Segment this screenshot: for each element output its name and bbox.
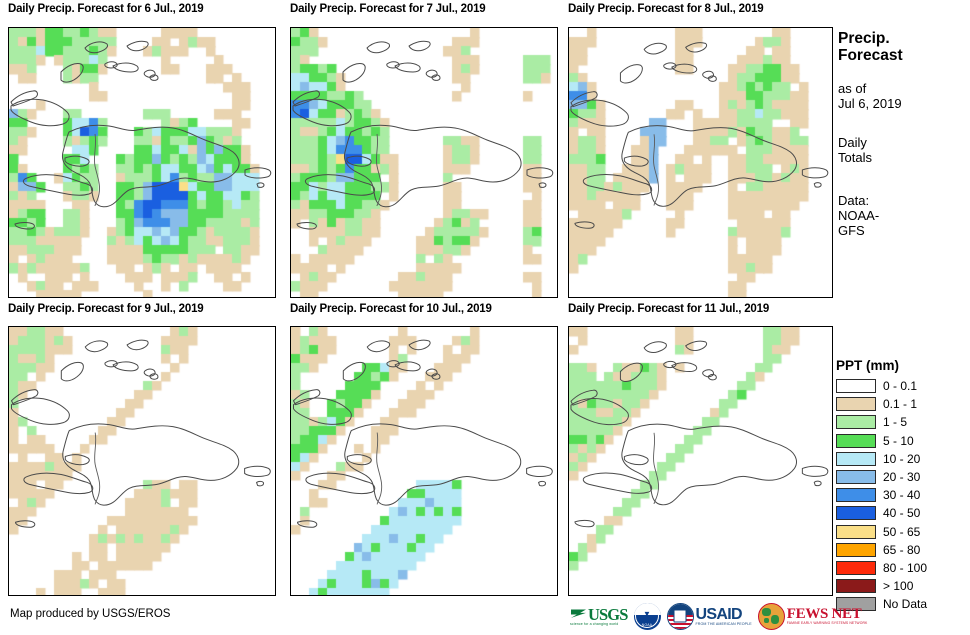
legend-label: 20 - 30	[883, 470, 920, 484]
legend-row: 1 - 5	[836, 413, 970, 431]
precip-grid-1	[9, 28, 276, 298]
map-frame-5[interactable]	[290, 326, 558, 596]
legend-swatch	[836, 397, 876, 411]
legend-title: PPT (mm)	[836, 358, 970, 373]
legend-swatch	[836, 470, 876, 484]
forecast-panel-1: Daily Precip. Forecast for 6 Jul., 2019	[8, 3, 276, 16]
forecast-panel-4: Daily Precip. Forecast for 9 Jul., 2019	[8, 303, 276, 316]
usgs-logo-tagline: science for a changing world	[570, 622, 628, 626]
usgs-logo[interactable]: USGS science for a changing world	[570, 601, 628, 631]
sidebar-data-line2: NOAA-	[838, 208, 968, 223]
panel-title: Daily Precip. Forecast for 6 Jul., 2019	[8, 3, 276, 16]
legend-rows: 0 - 0.10.1 - 11 - 55 - 1010 - 2020 - 303…	[836, 377, 970, 613]
legend-label: 5 - 10	[883, 434, 914, 448]
legend-swatch	[836, 525, 876, 539]
legend-label: 30 - 40	[883, 488, 920, 502]
legend-row: 20 - 30	[836, 468, 970, 486]
fews-logo-text: FEWS NET	[787, 607, 868, 621]
legend-row: 5 - 10	[836, 432, 970, 450]
forecast-panel-6: Daily Precip. Forecast for 11 Jul., 2019	[568, 303, 836, 316]
legend-row: 40 - 50	[836, 504, 970, 522]
legend-label: > 100	[883, 579, 913, 593]
legend-swatch	[836, 379, 876, 393]
sidebar-asof-line1: as of	[838, 81, 968, 96]
legend-row: 65 - 80	[836, 541, 970, 559]
legend-row: 30 - 40	[836, 486, 970, 504]
usaid-seal-icon	[667, 603, 694, 630]
noaa-seal-icon: ▼ NOAA	[634, 603, 661, 630]
noaa-logo[interactable]: ▼ NOAA	[634, 601, 661, 631]
legend-row: 0 - 0.1	[836, 377, 970, 395]
usaid-logo[interactable]: USAID FROM THE AMERICAN PEOPLE	[667, 601, 752, 631]
legend-label: 80 - 100	[883, 561, 927, 575]
precip-grid-6	[569, 327, 833, 596]
usaid-logo-tagline: FROM THE AMERICAN PEOPLE	[696, 622, 752, 626]
legend-label: 0 - 0.1	[883, 379, 917, 393]
legend-swatch	[836, 488, 876, 502]
usaid-logo-text: USAID	[696, 607, 752, 622]
panel-title: Daily Precip. Forecast for 10 Jul., 2019	[290, 303, 558, 316]
legend-swatch	[836, 415, 876, 429]
sidebar-data-line1: Data:	[838, 193, 968, 208]
usgs-logo-text: USGS	[588, 607, 628, 622]
legend-label: 10 - 20	[883, 452, 920, 466]
legend-label: 0.1 - 1	[883, 397, 917, 411]
panel-title: Daily Precip. Forecast for 8 Jul., 2019	[568, 3, 836, 16]
sidebar-data-line3: GFS	[838, 223, 968, 238]
precip-grid-5	[291, 327, 558, 596]
panel-title: Daily Precip. Forecast for 9 Jul., 2019	[8, 303, 276, 316]
usgs-wave-icon	[570, 607, 587, 622]
map-credit: Map produced by USGS/EROS	[10, 608, 170, 620]
sidebar-totals-line1: Daily	[838, 135, 968, 150]
agency-logos: USGS science for a changing world ▼ NOAA…	[570, 600, 867, 632]
map-frame-3[interactable]	[568, 27, 833, 298]
legend-label: 1 - 5	[883, 415, 907, 429]
legend-label: 40 - 50	[883, 506, 920, 520]
sidebar-totals-line2: Totals	[838, 150, 968, 165]
legend-swatch	[836, 452, 876, 466]
forecast-panel-5: Daily Precip. Forecast for 10 Jul., 2019	[290, 303, 558, 316]
legend-label: No Data	[883, 597, 927, 611]
fews-net-logo[interactable]: FEWS NET FAMINE EARLY WARNING SYSTEMS NE…	[758, 601, 868, 631]
forecast-panel-2: Daily Precip. Forecast for 7 Jul., 2019	[290, 3, 558, 16]
precip-grid-2	[291, 28, 558, 298]
legend-row: > 100	[836, 577, 970, 595]
map-frame-2[interactable]	[290, 27, 558, 298]
sidebar-title-line2: Forecast	[838, 47, 968, 64]
fews-globe-icon	[758, 603, 785, 630]
legend-row: 10 - 20	[836, 450, 970, 468]
forecast-panel-3: Daily Precip. Forecast for 8 Jul., 2019	[568, 3, 836, 16]
sidebar-title-line1: Precip.	[838, 30, 968, 47]
legend-row: 0.1 - 1	[836, 395, 970, 413]
panel-title: Daily Precip. Forecast for 11 Jul., 2019	[568, 303, 836, 316]
map-frame-6[interactable]	[568, 326, 833, 596]
legend-row: 80 - 100	[836, 559, 970, 577]
legend-label: 50 - 65	[883, 525, 920, 539]
fews-logo-tagline: FAMINE EARLY WARNING SYSTEMS NETWORK	[787, 621, 868, 625]
noaa-logo-text: NOAA	[634, 623, 661, 627]
legend-row: 50 - 65	[836, 523, 970, 541]
legend-swatch	[836, 543, 876, 557]
sidebar-asof-line2: Jul 6, 2019	[838, 96, 968, 111]
precip-grid-3	[569, 28, 833, 298]
panel-title: Daily Precip. Forecast for 7 Jul., 2019	[290, 3, 558, 16]
precip-legend: PPT (mm) 0 - 0.10.1 - 11 - 55 - 1010 - 2…	[836, 358, 970, 613]
map-frame-1[interactable]	[8, 27, 276, 298]
legend-swatch	[836, 506, 876, 520]
legend-swatch	[836, 561, 876, 575]
legend-label: 65 - 80	[883, 543, 920, 557]
precip-grid-4	[9, 327, 276, 596]
map-frame-4[interactable]	[8, 326, 276, 596]
info-sidebar: Precip. Forecast as of Jul 6, 2019 Daily…	[838, 30, 968, 238]
legend-swatch	[836, 579, 876, 593]
legend-swatch	[836, 434, 876, 448]
